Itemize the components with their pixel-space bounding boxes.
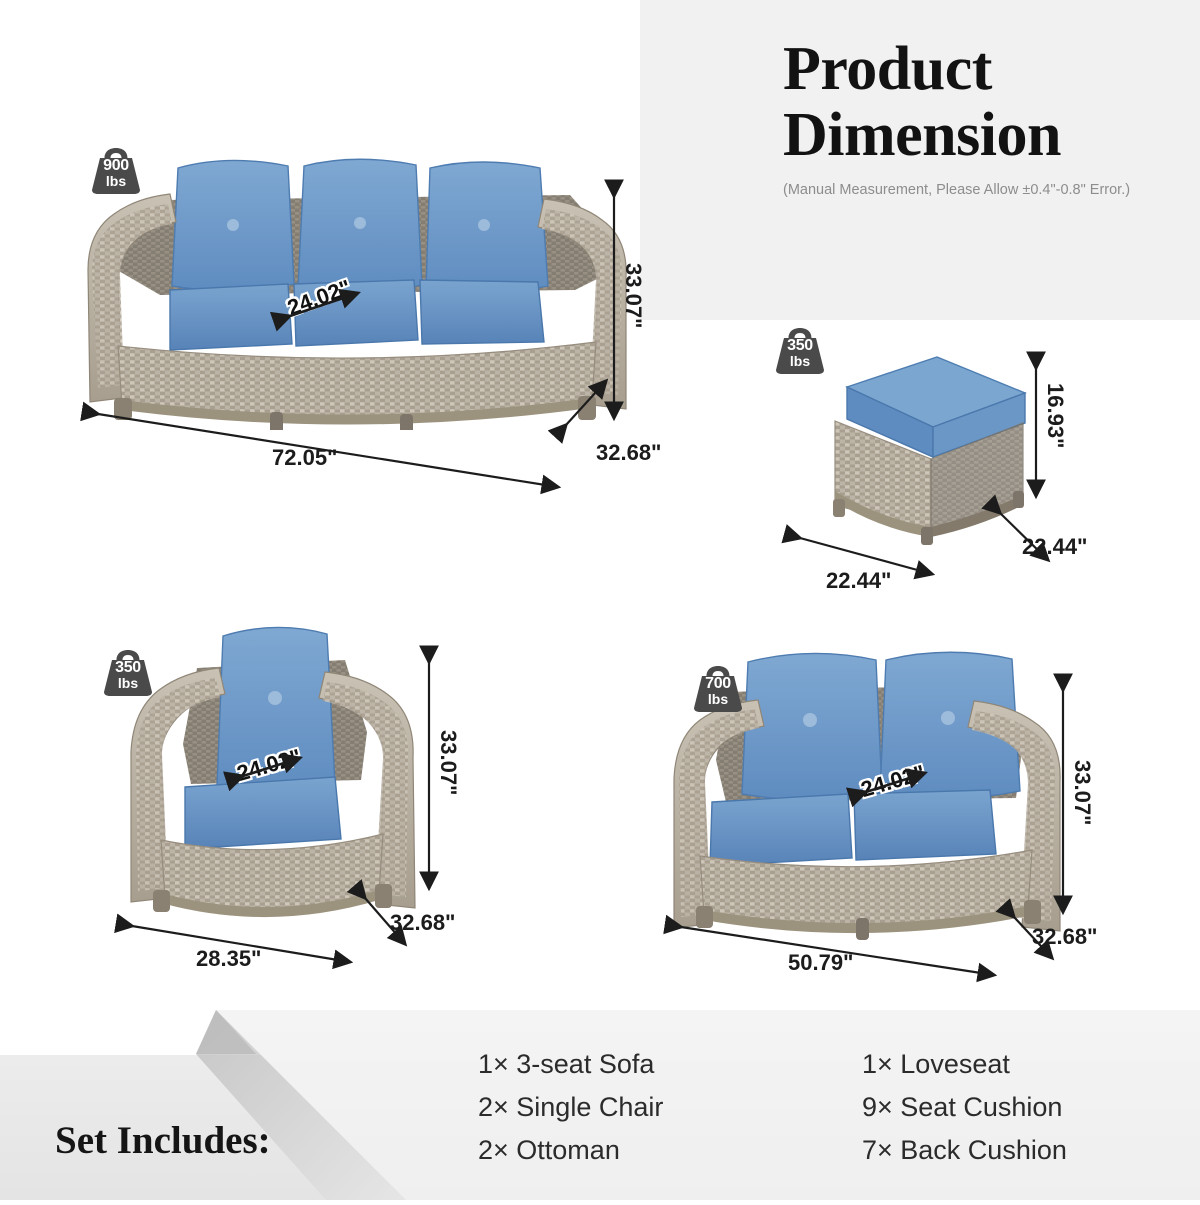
weight-value: 700 bbox=[690, 676, 746, 692]
dim-ottoman-width: 22.44" bbox=[826, 568, 891, 594]
header: Product Dimension (Manual Measurement, P… bbox=[783, 36, 1130, 198]
list-item: 2× Ottoman bbox=[478, 1129, 663, 1172]
dim-loveseat-width: 50.79" bbox=[788, 950, 853, 976]
list-item: 9× Seat Cushion bbox=[862, 1086, 1067, 1129]
dim-ottoman-depth: 22.44" bbox=[1022, 534, 1087, 560]
set-includes-banner: Set Includes: 1× 3-seat Sofa 2× Single C… bbox=[0, 1010, 1200, 1200]
set-includes-column-left: 1× 3-seat Sofa 2× Single Chair 2× Ottoma… bbox=[478, 1043, 663, 1172]
measurement-disclaimer: (Manual Measurement, Please Allow ±0.4"-… bbox=[783, 182, 1130, 198]
weight-value: 900 bbox=[88, 158, 144, 174]
page-title-line2: Dimension bbox=[783, 102, 1130, 168]
list-item: 7× Back Cushion bbox=[862, 1129, 1067, 1172]
dim-ottoman-height: 16.93" bbox=[1042, 383, 1068, 448]
dim-loveseat-depth: 32.68" bbox=[1032, 924, 1097, 950]
list-item: 2× Single Chair bbox=[478, 1086, 663, 1129]
weight-badge-loveseat: 700 lbs bbox=[690, 664, 746, 714]
dim-loveseat-height: 33.07" bbox=[1069, 760, 1095, 825]
weight-unit: lbs bbox=[88, 174, 144, 188]
dim-sofa-width: 72.05" bbox=[272, 445, 337, 471]
dim-chair-height: 33.07" bbox=[435, 730, 461, 795]
list-item: 1× 3-seat Sofa bbox=[478, 1043, 663, 1086]
weight-badge-three-seat-sofa: 900 lbs bbox=[88, 146, 144, 196]
dim-sofa-height: 33.07" bbox=[620, 263, 646, 328]
weight-unit: lbs bbox=[100, 676, 156, 690]
set-includes-label: Set Includes: bbox=[55, 1118, 271, 1163]
weight-badge-ottoman: 350 lbs bbox=[772, 326, 828, 376]
weight-value: 350 bbox=[772, 338, 828, 354]
dim-chair-width: 28.35" bbox=[196, 946, 261, 972]
page-title-line1: Product bbox=[783, 36, 1130, 102]
weight-unit: lbs bbox=[690, 692, 746, 706]
infographic-canvas: Product Dimension (Manual Measurement, P… bbox=[0, 0, 1200, 1200]
product-image-three-seat-sofa bbox=[70, 140, 640, 430]
dim-sofa-depth: 32.68" bbox=[596, 440, 661, 466]
weight-badge-single-chair: 350 lbs bbox=[100, 648, 156, 698]
weight-unit: lbs bbox=[772, 354, 828, 368]
dim-chair-depth: 32.68" bbox=[390, 910, 455, 936]
list-item: 1× Loveseat bbox=[862, 1043, 1067, 1086]
set-includes-column-right: 1× Loveseat 9× Seat Cushion 7× Back Cush… bbox=[862, 1043, 1067, 1172]
weight-value: 350 bbox=[100, 660, 156, 676]
